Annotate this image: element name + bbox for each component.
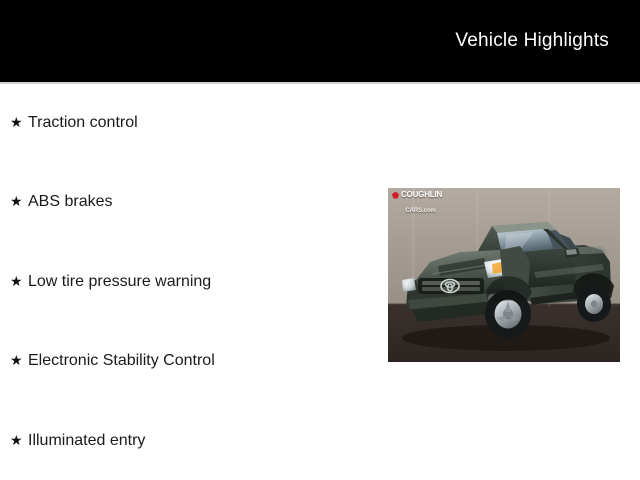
star-bullet-icon: ★ [10,112,28,132]
list-item: ★ Traction control [10,112,138,134]
feature-label: ABS brakes [28,192,112,212]
feature-label: Traction control [28,113,138,133]
watermark-brand: COUGHLIN [401,191,442,199]
vehicle-photo: COUGHLIN CARS.com [388,188,620,362]
star-bullet-icon: ★ [10,191,28,211]
star-bullet-icon: ★ [10,271,28,291]
list-item: ★ Low tire pressure warning [10,271,211,293]
content-area: ★ Traction control ★ ABS brakes ★ Low ti… [0,84,640,480]
feature-label: Illuminated entry [28,431,145,451]
dealer-watermark: COUGHLIN CARS.com [392,191,442,216]
watermark-subtext: CARS.com [405,208,435,214]
list-item: ★ Electronic Stability Control [10,350,215,372]
star-bullet-icon: ★ [10,430,28,450]
header-bar: Vehicle Highlights [0,0,640,82]
list-item: ★ ABS brakes [10,191,112,213]
feature-label: Electronic Stability Control [28,351,215,371]
feature-label: Low tire pressure warning [28,272,211,292]
star-bullet-icon: ★ [10,350,28,370]
list-item: ★ Illuminated entry [10,430,145,452]
page-title: Vehicle Highlights [455,30,609,52]
coughlin-logo-icon [392,192,399,199]
